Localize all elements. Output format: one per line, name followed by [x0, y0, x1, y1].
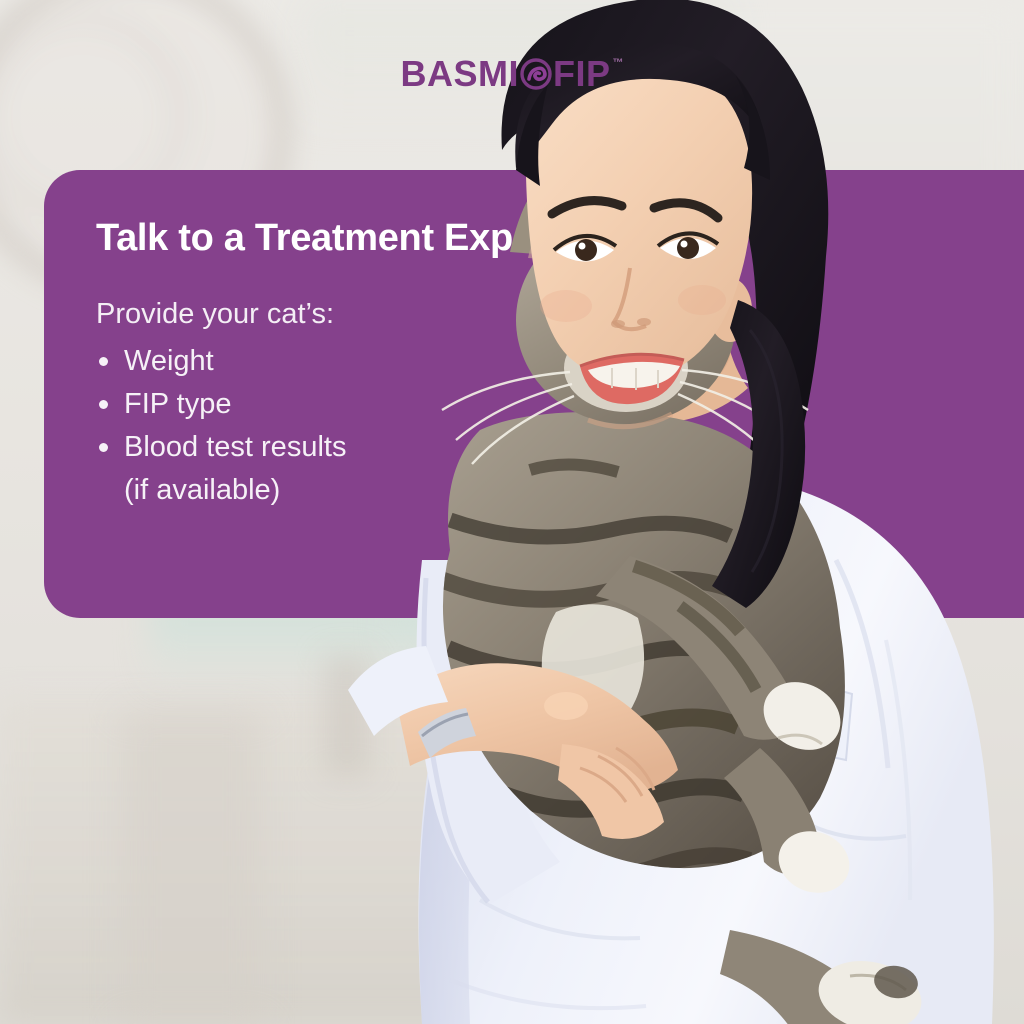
list-item: Blood test results (if available) — [96, 426, 516, 512]
info-card-content: Talk to a Treatment Expert Provide your … — [96, 218, 516, 512]
bullet-dot-icon — [99, 443, 108, 452]
list-item: Weight — [96, 340, 516, 383]
background-panel — [300, 0, 730, 120]
card-subtitle: Provide your cat’s: — [96, 296, 516, 332]
background-blob — [490, 770, 690, 890]
bullet-dot-icon — [99, 400, 108, 409]
background-stand — [325, 656, 369, 776]
info-card: Talk to a Treatment Expert Provide your … — [44, 170, 1024, 618]
bullet-dot-icon — [99, 357, 108, 366]
list-item-label: Blood test results — [124, 431, 346, 463]
requirements-list: Weight FIP type Blood test results (if a… — [96, 340, 516, 512]
page-title: Talk to a Treatment Expert — [96, 218, 516, 260]
background-cabinet — [122, 712, 262, 1024]
list-item-label: Weight — [124, 345, 214, 377]
list-item: FIP type — [96, 383, 516, 426]
list-item-label: FIP type — [124, 388, 231, 420]
list-item-sublabel: (if available) — [124, 469, 516, 512]
poster-canvas: Talk to a Treatment Expert Provide your … — [0, 0, 1024, 1024]
